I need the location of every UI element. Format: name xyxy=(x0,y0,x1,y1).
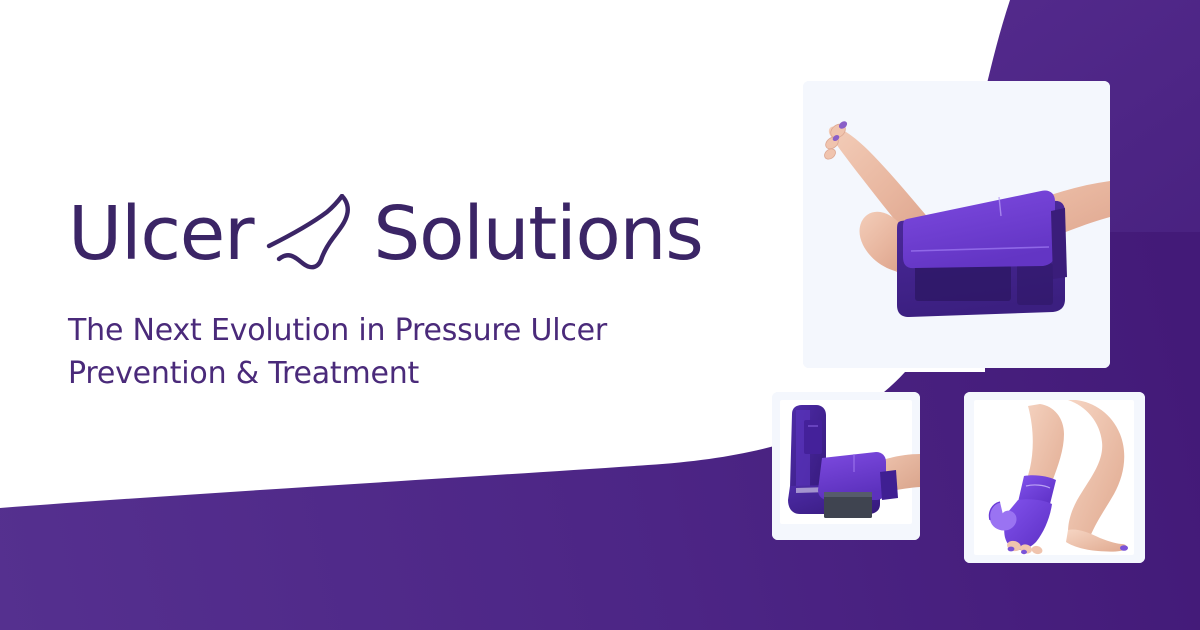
logo-lockup[interactable]: Ulcer Solutions xyxy=(68,186,768,282)
logo-word-solutions: Solutions xyxy=(373,197,702,271)
brand-block: Ulcer Solutions The Next Evolution in Pr… xyxy=(68,186,768,395)
photo-standing-legs-heel-sleeve xyxy=(964,392,1145,563)
foot-outline-icon xyxy=(263,194,367,274)
logo-word-ulcer: Ulcer xyxy=(68,197,253,271)
tagline: The Next Evolution in Pressure Ulcer Pre… xyxy=(68,310,668,395)
product-photo-card-boot[interactable] xyxy=(772,392,920,540)
product-photo-card-sock[interactable] xyxy=(964,392,1145,563)
photo-leg-in-heel-boot xyxy=(803,81,1110,368)
tagline-line-2: Prevention & Treatment xyxy=(68,353,668,396)
tagline-line-1: The Next Evolution in Pressure Ulcer xyxy=(68,310,668,353)
photo-boot-on-positioning-block xyxy=(772,392,920,540)
promo-banner: Ulcer Solutions The Next Evolution in Pr… xyxy=(0,0,1200,630)
product-photo-card-main[interactable] xyxy=(803,81,1110,368)
